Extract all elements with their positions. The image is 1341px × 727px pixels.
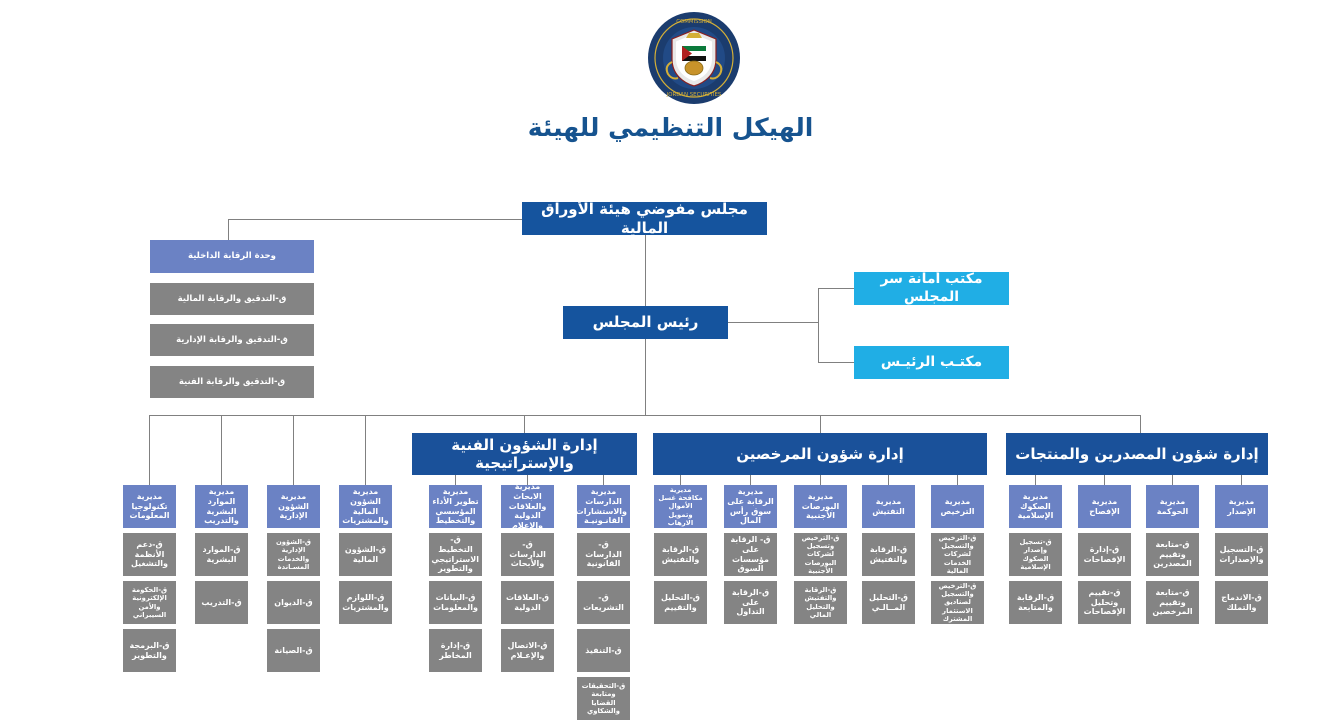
node-directorate-licensing[interactable]: مديرية الترخيص (931, 485, 984, 528)
node-chairman-office[interactable]: مكتـب الرئيـس (854, 346, 1009, 379)
node-section-investigations-cases-complaints[interactable]: ق-التحقيقات ومتابعة القضايا والشكاوي (577, 677, 630, 720)
node-section-administrative-audit[interactable]: ق-التدقيق والرقابة الإدارية (150, 324, 314, 356)
main-horizontal-bus (149, 415, 1140, 416)
node-section-training[interactable]: ق-التدريب (195, 581, 248, 624)
node-directorate-disclosure[interactable]: مديرية الإفصاح (1078, 485, 1131, 528)
node-directorate-governance[interactable]: مديرية الحوكمة (1146, 485, 1199, 528)
node-section-financial-affairs[interactable]: ق-الشؤون المالية (339, 533, 392, 576)
connector-dept-licensed-child-2 (750, 475, 751, 485)
connector-bus-to-dept-licensed (820, 415, 821, 433)
connector-offices-spine (818, 288, 819, 362)
node-board-of-commissioners[interactable]: مجلس مفوضي هيئة الأوراق المالية (522, 202, 767, 235)
node-section-sukuk-registration-issuance[interactable]: ق-تسجيل وإصدار الصكوك الإسلامية (1009, 533, 1062, 576)
node-directorate-issuance[interactable]: مديرية الإصدار (1215, 485, 1268, 528)
connector-board-to-internal-control-v (228, 219, 229, 240)
connector-board-to-chairman (645, 235, 646, 306)
connector-dept-issuers-child-2 (1104, 475, 1105, 485)
node-section-financial-audit[interactable]: ق-التدقيق والرقابة المالية (150, 283, 314, 315)
node-chairman[interactable]: رئيس المجلس (563, 306, 728, 339)
connector-dept-licensed-child-1 (680, 475, 681, 485)
node-section-mergers-acquisitions[interactable]: ق-الاندماج والتملك (1215, 581, 1268, 624)
connector-bus-to-dept-issuers (1140, 415, 1141, 433)
node-section-inspection-supervision[interactable]: ق-الرقابة والتفتيش (862, 533, 915, 576)
node-department-issuers-products-affairs[interactable]: إدارة شؤون المصدرين والمنتجات (1006, 433, 1268, 475)
node-section-sukuk-supervision-follow-up[interactable]: ق-الرقابة والمتابعة (1009, 581, 1062, 624)
svg-text:JORDAN SECURITIES: JORDAN SECURITIES (666, 92, 722, 98)
connector-bus-to-it-directorate (149, 415, 150, 485)
node-section-risk-management[interactable]: ق-إدارة المخاطر (429, 629, 482, 672)
node-directorate-legal-studies-consultations[interactable]: مديرية الدارسات والاستشارات القانـونيـة (577, 485, 630, 528)
connector-to-secretariat-office (818, 288, 854, 289)
connector-dept-licensed-child-4 (888, 475, 889, 485)
connector-dept-licensed-child-5 (957, 475, 958, 485)
node-section-studies-research[interactable]: ق-الدارسات والأبحاث (501, 533, 554, 576)
connector-bus-to-dept-technical (524, 415, 525, 433)
node-section-admin-affairs-support-services[interactable]: ق-الشؤون الإدارية والخدمات المسـاندة (267, 533, 320, 576)
node-section-legislation[interactable]: ق-التشريعات (577, 581, 630, 624)
node-directorate-islamic-sukuk[interactable]: مديرية الصكوك الإسلامية (1009, 485, 1062, 528)
connector-dept-technical-child-3 (603, 475, 604, 485)
node-directorate-financial-affairs-procurement[interactable]: مديرية الشؤون المالية والمشتريات (339, 485, 392, 528)
node-directorate-capital-market-supervision[interactable]: مديرية الرقابة على سوق رأس المال (724, 485, 777, 528)
node-department-licensed-persons-affairs[interactable]: إدارة شؤون المرخصين (653, 433, 987, 475)
node-section-licensing-registration-mutual-funds[interactable]: ق-الترخيص والتسجيل لصناديق الاستثمار الم… (931, 581, 984, 624)
svg-text:COMMISSION: COMMISSION (676, 19, 712, 25)
node-section-maintenance[interactable]: ق-الصيانة (267, 629, 320, 672)
node-section-aml-analysis-evaluation[interactable]: ق-التحليل والتقييم (654, 581, 707, 624)
org-chart-page: JORDAN SECURITIES COMMISSION الهيكل التن… (0, 0, 1341, 727)
node-section-diwan[interactable]: ق-الديوان (267, 581, 320, 624)
node-section-licensing-registration-financial-services-companies[interactable]: ق-الترخيص والتسجيل لشركات الخدمات المالي… (931, 533, 984, 576)
node-directorate-institutional-performance-planning[interactable]: مديرية تطوير الأداء المؤسسي والتخطيط (429, 485, 482, 528)
node-section-strategic-planning-development[interactable]: ق- التخطيط الاستراتيجي والتطوير (429, 533, 482, 576)
page-title: الهيكل التنظيمي للهيئة (0, 113, 1341, 142)
node-section-programming-development[interactable]: ق-البرمجة والتطوير (123, 629, 176, 672)
node-board-secretariat-office[interactable]: مكتب أمانة سر المجلس (854, 272, 1009, 305)
connector-dept-technical-child-2 (527, 475, 528, 485)
node-section-communication-media[interactable]: ق-الاتصال والإعـلام (501, 629, 554, 672)
node-section-trading-supervision[interactable]: ق-الرقابة على التداول (724, 581, 777, 624)
node-internal-control-unit[interactable]: وحدة الرقابة الداخلية (150, 240, 314, 273)
connector-dept-technical-child-1 (455, 475, 456, 485)
connector-dept-issuers-child-1 (1035, 475, 1036, 485)
node-section-financial-analysis[interactable]: ق-التحليل المــالـي (862, 581, 915, 624)
node-section-registration-issuances[interactable]: ق-التسجيل والإصدارات (1215, 533, 1268, 576)
node-section-licensing-registration-foreign-exchange-companies[interactable]: ق-الترخيص وتسجيل لشركات البورصات الأجنبي… (794, 533, 847, 576)
connector-dept-issuers-child-4 (1241, 475, 1242, 485)
node-section-aml-supervision-inspection[interactable]: ق-الرقابة والتفتيش (654, 533, 707, 576)
connector-dept-licensed-child-3 (820, 475, 821, 485)
node-section-licensed-persons-follow-up-evaluation[interactable]: ق-متابعة وتقييم المرخصين (1146, 581, 1199, 624)
jordan-securities-commission-logo: JORDAN SECURITIES COMMISSION (646, 10, 742, 106)
connector-bus-to-admin-directorate (293, 415, 294, 485)
node-section-supplies-procurement[interactable]: ق-اللوازم والمشتريات (339, 581, 392, 624)
node-section-supervision-inspection-financial-analysis[interactable]: ق-الرقابة والتفتيش والتحليل المالي (794, 581, 847, 624)
node-section-data-information[interactable]: ق-البيانات والمعلومات (429, 581, 482, 624)
node-directorate-inspection[interactable]: مديرية التفتيش (862, 485, 915, 528)
node-section-systems-support[interactable]: ق-دعم الأنظمة والتشغيل (123, 533, 176, 576)
node-section-international-relations[interactable]: ق-العلاقات الدولية (501, 581, 554, 624)
node-section-disclosure-evaluation-analysis[interactable]: ق-تقييم وتحليل الإفصاحات (1078, 581, 1131, 624)
node-section-legal-studies[interactable]: ق-الدارسات القانونية (577, 533, 630, 576)
node-directorate-anti-money-laundering[interactable]: مديرية مكافحة غسل الأموال وتمويل الارهاب (654, 485, 707, 528)
node-section-egovernment-cybersecurity[interactable]: ق-الحكومة الإلكترونية والأمن السيبراني (123, 581, 176, 624)
node-directorate-administrative-affairs[interactable]: مديرية الشؤون الإدارية (267, 485, 320, 528)
node-directorate-foreign-exchanges[interactable]: مديرية البورصات الأجنبية (794, 485, 847, 528)
node-department-technical-strategic-affairs[interactable]: إدارة الشؤون الفنية والإستراتيجية (412, 433, 637, 475)
connector-chairman-to-bus (645, 339, 646, 415)
connector-chairman-to-offices-h (728, 322, 818, 323)
node-section-supervision-market-institutions[interactable]: ق- الرقابة على مؤسسات السوق (724, 533, 777, 576)
node-section-technical-audit[interactable]: ق-التدقيق والرقابة الفنية (150, 366, 314, 398)
connector-board-to-internal-control-h (228, 219, 522, 220)
connector-bus-to-hr-directorate (221, 415, 222, 485)
node-section-enforcement[interactable]: ق-التنفيذ (577, 629, 630, 672)
node-directorate-human-resources-training[interactable]: مديرية الموارد البشرية والتدريب (195, 485, 248, 528)
node-section-disclosure-management[interactable]: ق-إدارة الإفصاحات (1078, 533, 1131, 576)
node-directorate-information-technology[interactable]: مديرية تكنولوجيا المعلومات (123, 485, 176, 528)
connector-to-chairman-office (818, 362, 854, 363)
node-section-human-resources[interactable]: ق-الموارد البشرية (195, 533, 248, 576)
node-section-issuers-follow-up-evaluation[interactable]: ق-متابعة وتقييم المصدرين (1146, 533, 1199, 576)
connector-dept-issuers-child-3 (1172, 475, 1173, 485)
node-directorate-research-international-relations-media[interactable]: مديرية الابحاث والعلاقات الدولية والاعلا… (501, 485, 554, 528)
connector-bus-to-finance-directorate (365, 415, 366, 485)
